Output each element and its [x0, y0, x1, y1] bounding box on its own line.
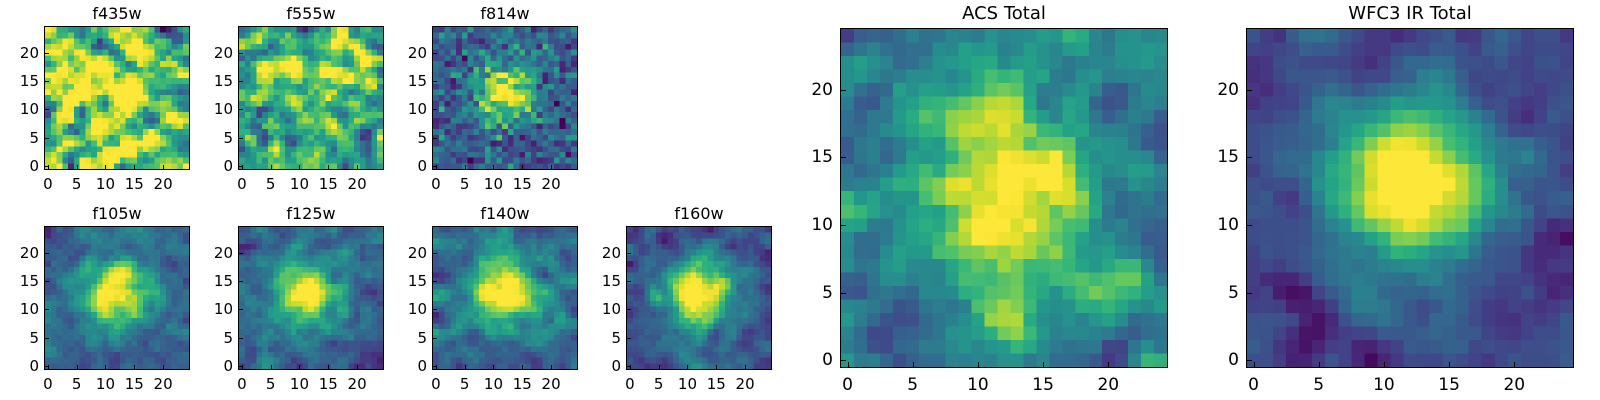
ytick-mark-f814w-1	[433, 138, 437, 139]
xtick-label-f814w-3: 15	[492, 175, 552, 193]
ytick-label-f435w-1: 5	[0, 129, 39, 147]
ytick-label-f555w-2: 10	[163, 100, 233, 118]
ytick-label-wfc3-ir-total-2: 10	[1169, 215, 1239, 235]
xtick-label-f435w-4: 20	[133, 175, 193, 193]
xtick-label-f125w-0: 0	[212, 375, 272, 393]
ytick-mark-f160w-2	[627, 309, 631, 310]
xtick-label-f555w-1: 5	[241, 175, 301, 193]
xtick-mark-acs-total-2	[978, 362, 979, 367]
xtick-label-f814w-2: 10	[463, 175, 523, 193]
xtick-mark-f160w-1	[659, 365, 660, 369]
panel-f435w: f435w0510152005101520	[0, 0, 1600, 400]
ytick-mark-f125w-2	[239, 309, 243, 310]
ytick-label-f140w-0: 0	[357, 357, 427, 375]
ytick-label-f105w-4: 20	[0, 244, 39, 262]
ytick-mark-f160w-0	[627, 366, 631, 367]
ytick-mark-f105w-3	[45, 281, 49, 282]
ytick-mark-acs-total-3	[841, 157, 846, 158]
ytick-label-f125w-3: 15	[163, 272, 233, 290]
xtick-mark-f105w-4	[163, 365, 164, 369]
xtick-mark-f125w-3	[328, 365, 329, 369]
xtick-mark-f435w-1	[77, 165, 78, 169]
xtick-label-wfc3-ir-total-0: 0	[1224, 375, 1284, 395]
panel-title-f435w: f435w	[44, 4, 190, 23]
ytick-label-f140w-4: 20	[357, 244, 427, 262]
xtick-mark-f435w-3	[134, 165, 135, 169]
ytick-label-f814w-4: 20	[357, 44, 427, 62]
ytick-mark-f125w-0	[239, 366, 243, 367]
ytick-label-acs-total-4: 20	[763, 80, 833, 100]
ytick-label-f555w-1: 5	[163, 129, 233, 147]
ytick-label-f814w-1: 5	[357, 129, 427, 147]
xtick-mark-f160w-2	[687, 365, 688, 369]
panel-title-acs-total: ACS Total	[840, 3, 1168, 25]
ytick-label-f435w-3: 15	[0, 72, 39, 90]
xtick-label-f435w-1: 5	[47, 175, 107, 193]
xtick-label-f555w-0: 0	[212, 175, 272, 193]
ytick-label-acs-total-3: 15	[763, 147, 833, 167]
ytick-label-f435w-0: 0	[0, 157, 39, 175]
ytick-mark-f435w-2	[45, 109, 49, 110]
xtick-label-f105w-4: 20	[133, 375, 193, 393]
ytick-label-f555w-4: 20	[163, 44, 233, 62]
xtick-mark-f435w-2	[105, 165, 106, 169]
xtick-label-f125w-4: 20	[327, 375, 387, 393]
ytick-label-wfc3-ir-total-0: 0	[1169, 350, 1239, 370]
xtick-mark-f435w-4	[163, 165, 164, 169]
ytick-label-f555w-3: 15	[163, 72, 233, 90]
panel-f814w: f814w0510152005101520	[0, 0, 1600, 400]
heatmap-acs-total	[840, 28, 1168, 368]
xtick-label-f814w-4: 20	[521, 175, 581, 193]
xtick-label-f435w-3: 15	[104, 175, 164, 193]
ytick-label-f160w-3: 15	[551, 272, 621, 290]
ytick-mark-f435w-1	[45, 138, 49, 139]
ytick-mark-acs-total-2	[841, 225, 846, 226]
ytick-mark-f435w-0	[45, 166, 49, 167]
heatmap-canvas-f160w	[627, 227, 771, 369]
xtick-mark-f160w-3	[716, 365, 717, 369]
heatmap-canvas-f105w	[45, 227, 189, 369]
heatmap-canvas-f555w	[239, 27, 383, 169]
ytick-mark-f105w-2	[45, 309, 49, 310]
ytick-mark-f814w-3	[433, 81, 437, 82]
heatmap-f555w	[238, 26, 384, 170]
ytick-mark-acs-total-0	[841, 360, 846, 361]
ytick-mark-f125w-1	[239, 338, 243, 339]
xtick-label-acs-total-3: 15	[1013, 375, 1073, 395]
ytick-mark-f140w-3	[433, 281, 437, 282]
ytick-label-f814w-2: 10	[357, 100, 427, 118]
ytick-mark-wfc3-ir-total-3	[1247, 157, 1252, 158]
xtick-label-f140w-2: 10	[463, 375, 523, 393]
xtick-label-f160w-1: 5	[629, 375, 689, 393]
xtick-label-f140w-0: 0	[406, 375, 466, 393]
ytick-mark-wfc3-ir-total-4	[1247, 90, 1252, 91]
xtick-label-f125w-1: 5	[241, 375, 301, 393]
xtick-mark-f555w-0	[242, 165, 243, 169]
ytick-label-f105w-1: 5	[0, 329, 39, 347]
xtick-label-f814w-1: 5	[435, 175, 495, 193]
xtick-mark-f140w-2	[493, 365, 494, 369]
panel-title-f555w: f555w	[238, 4, 384, 23]
xtick-label-f160w-0: 0	[600, 375, 660, 393]
panel-f125w: f125w0510152005101520	[0, 0, 1600, 400]
heatmap-canvas-acs-total	[841, 29, 1167, 367]
panel-f160w: f160w0510152005101520	[0, 0, 1600, 400]
ytick-label-f160w-0: 0	[551, 357, 621, 375]
xtick-mark-f140w-1	[465, 365, 466, 369]
xtick-label-f140w-4: 20	[521, 375, 581, 393]
ytick-label-acs-total-2: 10	[763, 215, 833, 235]
ytick-mark-f555w-2	[239, 109, 243, 110]
ytick-mark-f140w-1	[433, 338, 437, 339]
ytick-mark-f160w-3	[627, 281, 631, 282]
xtick-label-acs-total-4: 20	[1078, 375, 1138, 395]
ytick-label-f125w-0: 0	[163, 357, 233, 375]
ytick-mark-f140w-4	[433, 253, 437, 254]
xtick-label-f435w-0: 0	[18, 175, 78, 193]
ytick-label-f814w-3: 15	[357, 72, 427, 90]
xtick-mark-f814w-3	[522, 165, 523, 169]
xtick-mark-acs-total-1	[913, 362, 914, 367]
panel-wfc3-ir-total: WFC3 IR Total0510152005101520	[0, 0, 1600, 400]
heatmap-wfc3-ir-total	[1246, 28, 1574, 368]
ytick-mark-f814w-2	[433, 109, 437, 110]
ytick-label-wfc3-ir-total-3: 15	[1169, 147, 1239, 167]
xtick-mark-f814w-2	[493, 165, 494, 169]
xtick-mark-wfc3-ir-total-4	[1514, 362, 1515, 367]
ytick-label-f555w-0: 0	[163, 157, 233, 175]
heatmap-canvas-f125w	[239, 227, 383, 369]
ytick-label-f160w-4: 20	[551, 244, 621, 262]
ytick-mark-f105w-4	[45, 253, 49, 254]
xtick-label-f555w-2: 10	[269, 175, 329, 193]
xtick-label-wfc3-ir-total-2: 10	[1354, 375, 1414, 395]
heatmap-canvas-f435w	[45, 27, 189, 169]
xtick-label-f160w-4: 20	[715, 375, 775, 393]
ytick-label-f140w-1: 5	[357, 329, 427, 347]
panel-title-wfc3-ir-total: WFC3 IR Total	[1246, 3, 1574, 25]
ytick-label-f814w-0: 0	[357, 157, 427, 175]
xtick-mark-f125w-1	[271, 365, 272, 369]
ytick-label-f105w-0: 0	[0, 357, 39, 375]
ytick-mark-wfc3-ir-total-0	[1247, 360, 1252, 361]
xtick-label-f555w-4: 20	[327, 175, 387, 193]
panel-acs-total: ACS Total0510152005101520	[0, 0, 1600, 400]
xtick-label-f814w-0: 0	[406, 175, 466, 193]
ytick-mark-f160w-4	[627, 253, 631, 254]
xtick-label-f125w-3: 15	[298, 375, 358, 393]
xtick-label-f160w-2: 10	[657, 375, 717, 393]
ytick-mark-f140w-0	[433, 366, 437, 367]
xtick-label-f140w-3: 15	[492, 375, 552, 393]
xtick-mark-f160w-4	[745, 365, 746, 369]
xtick-label-acs-total-2: 10	[948, 375, 1008, 395]
xtick-mark-f105w-1	[77, 365, 78, 369]
ytick-mark-f435w-3	[45, 81, 49, 82]
xtick-mark-wfc3-ir-total-2	[1384, 362, 1385, 367]
xtick-mark-f814w-0	[436, 165, 437, 169]
xtick-mark-f140w-4	[551, 365, 552, 369]
xtick-label-f160w-3: 15	[686, 375, 746, 393]
ytick-label-f140w-2: 10	[357, 300, 427, 318]
xtick-mark-acs-total-0	[848, 362, 849, 367]
xtick-mark-f140w-3	[522, 365, 523, 369]
ytick-label-f125w-1: 5	[163, 329, 233, 347]
xtick-label-f140w-1: 5	[435, 375, 495, 393]
ytick-label-f125w-2: 10	[163, 300, 233, 318]
ytick-mark-f125w-4	[239, 253, 243, 254]
ytick-mark-f814w-4	[433, 53, 437, 54]
xtick-mark-f105w-3	[134, 365, 135, 369]
ytick-mark-f814w-0	[433, 166, 437, 167]
ytick-mark-acs-total-4	[841, 90, 846, 91]
panel-f555w: f555w0510152005101520	[0, 0, 1600, 400]
ytick-label-f125w-4: 20	[163, 244, 233, 262]
xtick-label-wfc3-ir-total-3: 15	[1419, 375, 1479, 395]
xtick-mark-f814w-1	[465, 165, 466, 169]
ytick-mark-f555w-1	[239, 138, 243, 139]
heatmap-f105w	[44, 226, 190, 370]
ytick-mark-f160w-1	[627, 338, 631, 339]
ytick-mark-f435w-4	[45, 53, 49, 54]
panel-title-f160w: f160w	[626, 204, 772, 223]
ytick-label-acs-total-0: 0	[763, 350, 833, 370]
xtick-label-acs-total-1: 5	[883, 375, 943, 395]
panel-f140w: f140w0510152005101520	[0, 0, 1600, 400]
xtick-label-f125w-2: 10	[269, 375, 329, 393]
xtick-label-wfc3-ir-total-1: 5	[1289, 375, 1349, 395]
heatmap-f140w	[432, 226, 578, 370]
xtick-mark-f555w-1	[271, 165, 272, 169]
ytick-mark-f555w-0	[239, 166, 243, 167]
xtick-label-acs-total-0: 0	[818, 375, 878, 395]
xtick-mark-f555w-2	[299, 165, 300, 169]
ytick-label-wfc3-ir-total-4: 20	[1169, 80, 1239, 100]
xtick-mark-f105w-2	[105, 365, 106, 369]
ytick-label-f435w-4: 20	[0, 44, 39, 62]
ytick-mark-f140w-2	[433, 309, 437, 310]
ytick-label-acs-total-1: 5	[763, 283, 833, 303]
xtick-label-f105w-2: 10	[75, 375, 135, 393]
panel-title-f814w: f814w	[432, 4, 578, 23]
xtick-label-f555w-3: 15	[298, 175, 358, 193]
heatmap-f435w	[44, 26, 190, 170]
xtick-label-f105w-1: 5	[47, 375, 107, 393]
ytick-mark-wfc3-ir-total-2	[1247, 225, 1252, 226]
ytick-mark-f555w-3	[239, 81, 243, 82]
ytick-label-f160w-1: 5	[551, 329, 621, 347]
xtick-mark-wfc3-ir-total-1	[1319, 362, 1320, 367]
xtick-mark-f125w-4	[357, 365, 358, 369]
xtick-label-f435w-2: 10	[75, 175, 135, 193]
ytick-label-f140w-3: 15	[357, 272, 427, 290]
panel-f105w: f105w0510152005101520	[0, 0, 1600, 400]
xtick-mark-f105w-0	[48, 365, 49, 369]
heatmap-f125w	[238, 226, 384, 370]
ytick-mark-f555w-4	[239, 53, 243, 54]
ytick-label-f160w-2: 10	[551, 300, 621, 318]
xtick-mark-f140w-0	[436, 365, 437, 369]
heatmap-f160w	[626, 226, 772, 370]
xtick-label-f105w-3: 15	[104, 375, 164, 393]
heatmap-canvas-wfc3-ir-total	[1247, 29, 1573, 367]
panel-title-f105w: f105w	[44, 204, 190, 223]
xtick-mark-f125w-0	[242, 365, 243, 369]
ytick-label-f105w-3: 15	[0, 272, 39, 290]
xtick-mark-f160w-0	[630, 365, 631, 369]
ytick-label-wfc3-ir-total-1: 5	[1169, 283, 1239, 303]
ytick-mark-acs-total-1	[841, 293, 846, 294]
xtick-mark-f555w-3	[328, 165, 329, 169]
heatmap-canvas-f814w	[433, 27, 577, 169]
xtick-mark-acs-total-3	[1043, 362, 1044, 367]
xtick-mark-f814w-4	[551, 165, 552, 169]
xtick-mark-wfc3-ir-total-0	[1254, 362, 1255, 367]
ytick-label-f435w-2: 10	[0, 100, 39, 118]
xtick-mark-f125w-2	[299, 365, 300, 369]
ytick-mark-f105w-0	[45, 366, 49, 367]
panel-title-f125w: f125w	[238, 204, 384, 223]
xtick-label-f105w-0: 0	[18, 375, 78, 393]
ytick-label-f105w-2: 10	[0, 300, 39, 318]
ytick-mark-wfc3-ir-total-1	[1247, 293, 1252, 294]
xtick-mark-f435w-0	[48, 165, 49, 169]
panel-title-f140w: f140w	[432, 204, 578, 223]
xtick-mark-acs-total-4	[1108, 362, 1109, 367]
xtick-mark-wfc3-ir-total-3	[1449, 362, 1450, 367]
xtick-label-wfc3-ir-total-4: 20	[1484, 375, 1544, 395]
ytick-mark-f105w-1	[45, 338, 49, 339]
heatmap-canvas-f140w	[433, 227, 577, 369]
heatmap-f814w	[432, 26, 578, 170]
ytick-mark-f125w-3	[239, 281, 243, 282]
xtick-mark-f555w-4	[357, 165, 358, 169]
